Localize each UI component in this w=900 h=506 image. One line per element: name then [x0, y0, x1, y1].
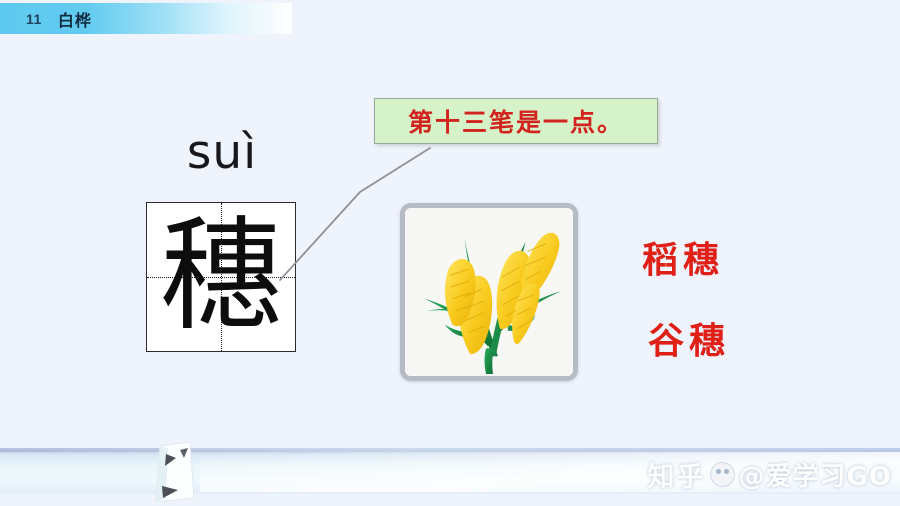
- wheat-ears-icon: [405, 208, 573, 376]
- stroke-hint-callout: 第十三笔是一点。: [374, 98, 658, 144]
- ribbon-fold: [150, 442, 200, 502]
- illustration-frame: [400, 203, 578, 381]
- ribbon-top-edge: [0, 448, 900, 452]
- lesson-number: 11: [26, 11, 42, 27]
- watermark-avatar-icon: [710, 462, 735, 487]
- watermark-handle: @爱学习GO: [739, 456, 892, 493]
- vocabulary-word: 稻穗: [642, 231, 724, 283]
- watermark: 知乎 @爱学习GO: [648, 455, 892, 494]
- lesson-title: 白桦: [58, 7, 92, 31]
- pinyin-label: suì: [146, 126, 298, 180]
- watermark-platform: 知乎: [648, 455, 706, 494]
- character-glyph: 穗: [147, 203, 295, 351]
- character-grid-box: 穗: [146, 202, 296, 352]
- vocabulary-word: 谷穗: [648, 312, 730, 364]
- lesson-header-content: 11 白桦: [0, 3, 292, 34]
- stroke-hint-text: 第十三笔是一点。: [408, 103, 624, 139]
- lesson-header-bar: 11 白桦: [0, 3, 292, 34]
- slide-canvas: 11 白桦 suì 穗 第十三笔是一点。: [0, 0, 900, 506]
